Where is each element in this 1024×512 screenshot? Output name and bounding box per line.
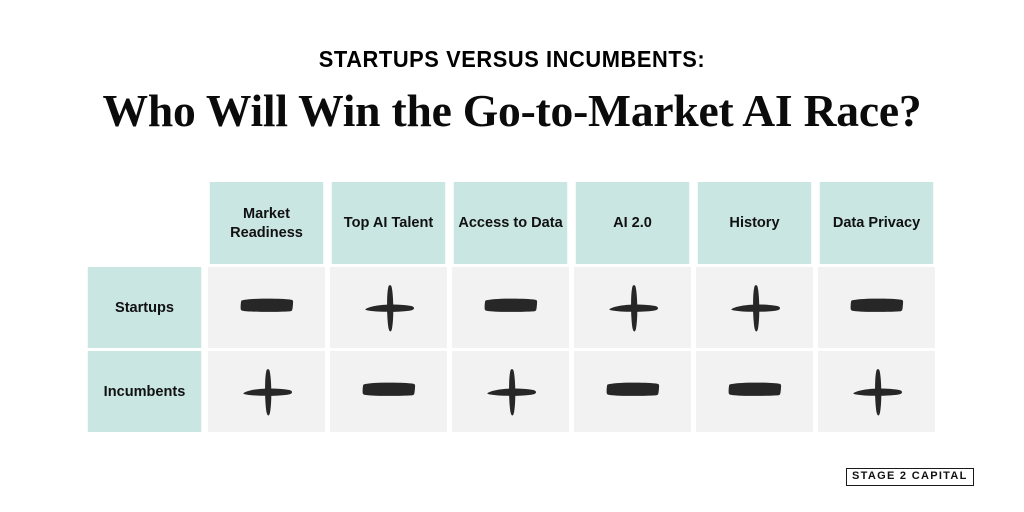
column-header-top-ai-talent: Top AI Talent bbox=[332, 182, 445, 264]
cell-startups-market-readiness bbox=[208, 267, 325, 348]
minus-icon bbox=[358, 359, 420, 421]
plus-icon bbox=[724, 277, 786, 339]
cell-startups-top-ai-talent bbox=[330, 267, 447, 348]
row-header-label: Startups bbox=[115, 299, 174, 316]
table-row: Incumbents bbox=[86, 351, 930, 432]
minus-icon bbox=[846, 275, 908, 337]
cell-startups-data-privacy bbox=[818, 267, 935, 348]
cell-startups-access-to-data bbox=[452, 267, 569, 348]
matrix-corner-cell bbox=[86, 182, 203, 264]
cell-incumbents-data-privacy bbox=[818, 351, 935, 432]
column-header-label: AI 2.0 bbox=[613, 213, 652, 232]
plus-icon bbox=[480, 361, 542, 423]
row-header-startups: Startups bbox=[88, 267, 201, 348]
column-header-label: Data Privacy bbox=[833, 213, 920, 232]
stage-2-capital-logo: STAGE 2 CAPITAL bbox=[846, 468, 974, 486]
column-header-ai-2-0: AI 2.0 bbox=[576, 182, 689, 264]
cell-startups-ai-2-0 bbox=[574, 267, 691, 348]
cell-incumbents-market-readiness bbox=[208, 351, 325, 432]
plus-icon bbox=[236, 361, 298, 423]
eyebrow-title: STARTUPS VERSUS INCUMBENTS: bbox=[26, 48, 999, 71]
minus-icon bbox=[724, 359, 786, 421]
cell-incumbents-ai-2-0 bbox=[574, 351, 691, 432]
column-header-label: Market Readiness bbox=[214, 204, 320, 242]
column-header-label: Top AI Talent bbox=[344, 213, 433, 232]
minus-icon bbox=[236, 275, 298, 337]
column-header-label: Access to Data bbox=[458, 213, 562, 232]
page-title: Who Will Win the Go-to-Market AI Race? bbox=[5, 88, 1019, 134]
column-header-data-privacy: Data Privacy bbox=[820, 182, 933, 264]
title-block: STARTUPS VERSUS INCUMBENTS: Who Will Win… bbox=[0, 48, 1024, 134]
plus-icon bbox=[358, 277, 420, 339]
comparison-matrix: Market Readiness Top AI Talent Access to… bbox=[86, 182, 930, 432]
row-header-label: Incumbents bbox=[104, 383, 186, 400]
cell-incumbents-history bbox=[696, 351, 813, 432]
plus-icon bbox=[602, 277, 664, 339]
column-header-history: History bbox=[698, 182, 811, 264]
matrix-header-row: Market Readiness Top AI Talent Access to… bbox=[86, 182, 930, 264]
plus-icon bbox=[846, 361, 908, 423]
cell-incumbents-top-ai-talent bbox=[330, 351, 447, 432]
column-header-market-readiness: Market Readiness bbox=[210, 182, 323, 264]
cell-startups-history bbox=[696, 267, 813, 348]
cell-incumbents-access-to-data bbox=[452, 351, 569, 432]
column-header-label: History bbox=[729, 213, 779, 232]
minus-icon bbox=[480, 275, 542, 337]
row-header-incumbents: Incumbents bbox=[88, 351, 201, 432]
table-row: Startups bbox=[86, 267, 930, 348]
column-header-access-to-data: Access to Data bbox=[454, 182, 567, 264]
minus-icon bbox=[602, 359, 664, 421]
